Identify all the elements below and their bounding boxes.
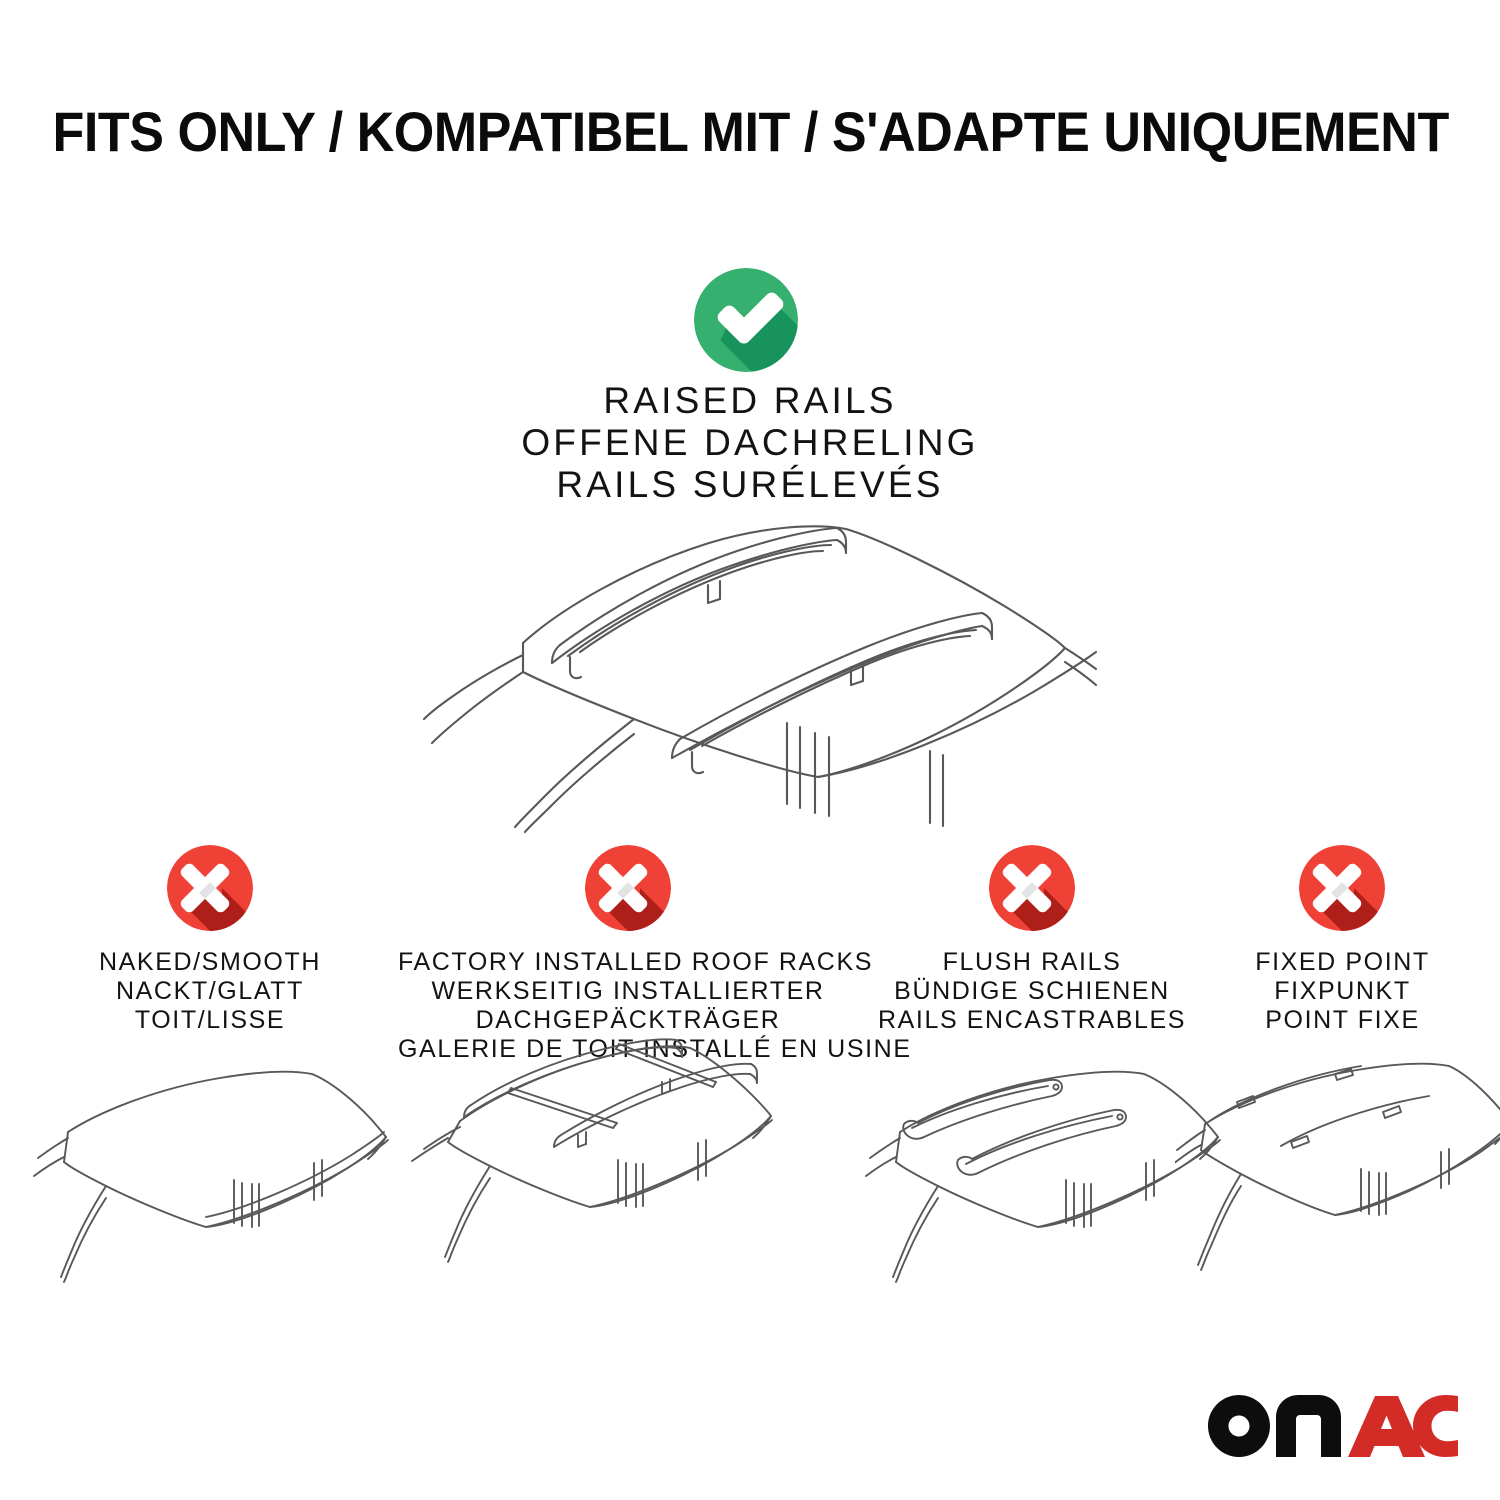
not-compatible-label-flush-rails: FLUSH RAILS BÜNDIGE SCHIENEN RAILS ENCAS… <box>862 948 1202 1035</box>
x-circle-icon <box>585 845 671 931</box>
label-line-en: FIXED POINT <box>1205 948 1480 977</box>
label-line-de: BÜNDIGE SCHIENEN <box>862 977 1202 1006</box>
x-circle-icon <box>1299 845 1385 931</box>
label-line-fr: TOIT/LISSE <box>30 1006 390 1035</box>
label-line-de: FIXPUNKT <box>1205 977 1480 1006</box>
label-line-en: NAKED/SMOOTH <box>30 948 390 977</box>
label-line-de: NACKT/GLATT <box>30 977 390 1006</box>
car-roof-fixed-points-illustration <box>1175 1060 1500 1295</box>
car-roof-raised-rails-illustration <box>410 505 1100 835</box>
label-line-fr: POINT FIXE <box>1205 1006 1480 1035</box>
header: FITS ONLY / KOMPATIBEL MIT / S'ADAPTE UN… <box>0 104 1500 160</box>
page-title: FITS ONLY / KOMPATIBEL MIT / S'ADAPTE UN… <box>53 104 1448 160</box>
omac-logo: OMAC <box>1208 1390 1458 1462</box>
car-roof-flush-rails-illustration <box>862 1060 1202 1295</box>
car-roof-naked-smooth-illustration <box>30 1060 390 1295</box>
label-line-de-2: DACHGEPÄCKTRÄGER <box>398 1006 858 1035</box>
compatible-label: RAISED RAILS OFFENE DACHRELING RAILS SUR… <box>0 380 1500 506</box>
check-circle-icon <box>694 268 798 372</box>
label-line-en: FACTORY INSTALLED ROOF RACKS <box>398 948 858 977</box>
compatible-label-en: RAISED RAILS <box>0 380 1500 422</box>
label-line-fr: RAILS ENCASTRABLES <box>862 1006 1202 1035</box>
compatible-label-de: OFFENE DACHRELING <box>0 422 1500 464</box>
compatible-label-fr: RAILS SURÉLEVÉS <box>0 464 1500 506</box>
not-compatible-label-naked-smooth: NAKED/SMOOTH NACKT/GLATT TOIT/LISSE <box>30 948 390 1035</box>
car-roof-factory-crossbars-illustration <box>398 1035 858 1290</box>
label-line-de-1: WERKSEITIG INSTALLIERTER <box>398 977 858 1006</box>
x-circle-icon <box>989 845 1075 931</box>
x-circle-icon <box>167 845 253 931</box>
label-line-en: FLUSH RAILS <box>862 948 1202 977</box>
not-compatible-label-fixed-point: FIXED POINT FIXPUNKT POINT FIXE <box>1205 948 1480 1035</box>
